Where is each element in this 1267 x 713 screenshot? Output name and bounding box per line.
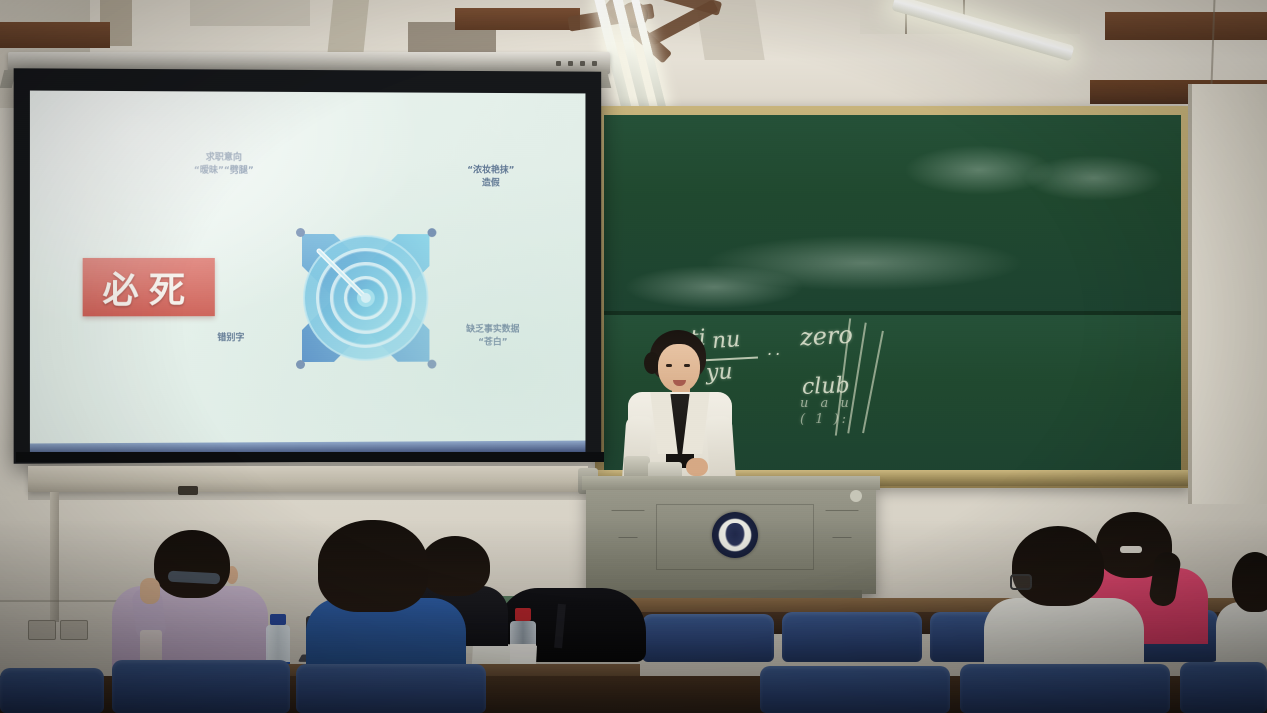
roller-indicator (556, 61, 561, 66)
screen-bottom-rail (16, 452, 604, 462)
bottle-cap (515, 608, 531, 621)
lecture-seat (760, 666, 950, 713)
slide-label-bottom-right-line1: 缺乏事实数据 (437, 324, 548, 337)
hair-clip (1120, 546, 1142, 553)
lecture-seat (1180, 662, 1267, 713)
wall-fitting (178, 486, 198, 495)
lecture-seat (782, 612, 922, 662)
lecture-seat (296, 664, 486, 713)
slide-label-top-right: “浓妆艳抹” 造假 (439, 164, 542, 190)
wood-fascia (0, 22, 110, 48)
student-head (154, 530, 230, 598)
slide-label-top-right-line2: 造假 (439, 177, 542, 190)
student-hand (140, 578, 160, 604)
right-wall (1190, 84, 1267, 504)
bottle-cap (270, 614, 286, 625)
target-node-dot (427, 228, 436, 237)
school-emblem-icon (712, 512, 758, 558)
power-outlet[interactable] (60, 620, 88, 640)
student-head (1232, 552, 1267, 612)
roller-indicator (580, 61, 585, 66)
slide-badge-bi-si: 必死 (83, 258, 215, 316)
chalk-text-dots: .. (767, 340, 783, 359)
slide-label-bottom-right: 缺乏事实数据 “苍白” (437, 324, 548, 350)
slide-canvas: 必死 (30, 91, 586, 444)
podium-cup-icon (824, 510, 860, 538)
chalk-smudge (704, 235, 1024, 291)
wood-fascia (1105, 12, 1267, 40)
target-node-dot (427, 360, 436, 369)
podium-top (582, 476, 880, 490)
target-bullseye-icon (278, 210, 453, 386)
slide-label-top-left-line1: 求职意向 (157, 151, 290, 164)
slide-label-bottom-left: 错别字 (196, 332, 266, 345)
lecture-seat (0, 668, 104, 713)
ceiling-beam (327, 0, 369, 58)
student-head (318, 520, 428, 612)
ceiling-beam (190, 0, 310, 26)
lecture-seat (642, 614, 774, 662)
wall-edge (1188, 84, 1192, 504)
fan-blade (647, 0, 718, 46)
ledge-shadow (28, 492, 588, 500)
podium-knob[interactable] (850, 490, 862, 502)
chalk-smudge (1024, 155, 1164, 201)
roller-indicator (568, 61, 573, 66)
presenter-eye (684, 364, 690, 367)
student-head (1012, 526, 1104, 606)
presenter-eye (666, 364, 672, 367)
target-svg (278, 210, 453, 386)
projector-screen: 必死 (14, 68, 602, 463)
wall-seam (0, 600, 120, 602)
chalk-text-misc: ( 1 ): (800, 412, 849, 427)
lecture-seat (960, 664, 1170, 713)
student-head (420, 536, 490, 596)
blackboard-panel-upper (604, 115, 1181, 315)
podium-cup-icon (610, 510, 646, 538)
wall-ledge (28, 466, 588, 492)
power-outlet[interactable] (28, 620, 56, 640)
target-node-dot (296, 228, 305, 237)
chalk-smudge (624, 265, 804, 309)
slide-label-top-left: 求职意向 “暧昧”“劈腿” (157, 151, 290, 177)
target-node-dot (296, 360, 305, 369)
chalk-text-uau: u a u (800, 396, 853, 411)
classroom-scene: ti nu yu .. zero club u a u ( 1 ): 必死 (0, 0, 1267, 713)
slide-label-top-left-line2: “暧昧”“劈腿” (157, 165, 290, 178)
glasses-icon (1010, 574, 1032, 590)
chalk-smudge (904, 145, 1054, 195)
roller-indicator (592, 61, 597, 66)
slide-label-top-right-line1: “浓妆艳抹” (439, 164, 542, 177)
presenter-hand (686, 458, 708, 476)
slide-label-bottom-right-line2: “苍白” (437, 336, 548, 349)
ledge-support (50, 492, 59, 622)
lecture-seat (112, 660, 290, 713)
lectern-podium (586, 484, 876, 594)
